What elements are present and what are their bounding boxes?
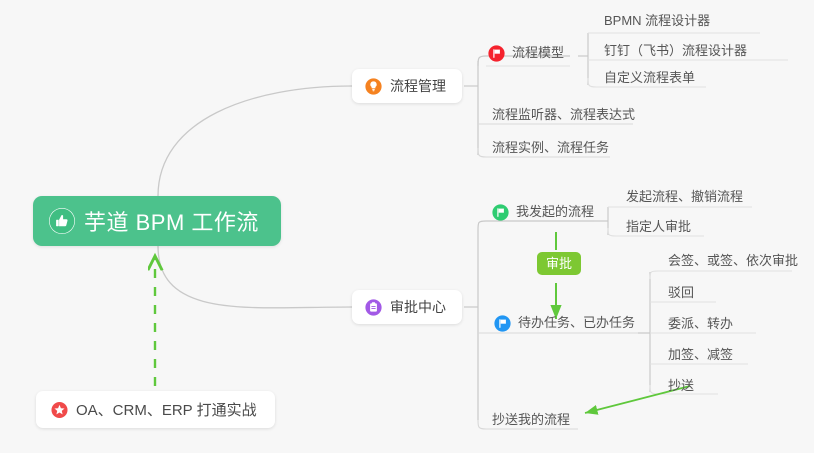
node-jiaqian-jianqian[interactable]: 加签、减签 <box>664 346 739 369</box>
floating-node-label: OA、CRM、ERP 打通实战 <box>76 399 257 420</box>
branch-node-shenpizhongxin[interactable]: 审批中心 <box>352 290 462 324</box>
node-liuchengmoxing[interactable]: 流程模型 <box>486 44 570 67</box>
node-liuchengshili[interactable]: 流程实例、流程任务 <box>488 139 615 162</box>
flag-icon <box>488 45 505 62</box>
floating-node-oa-crm-erp[interactable]: OA、CRM、ERP 打通实战 <box>36 391 275 428</box>
node-weipai-zhuanban[interactable]: 委派、转办 <box>664 315 739 338</box>
branch-label: 流程管理 <box>390 76 446 96</box>
node-wofaqide-liucheng[interactable]: 我发起的流程 <box>490 203 600 226</box>
node-custom-form[interactable]: 自定义流程表单 <box>600 69 701 92</box>
node-chaosong[interactable]: 抄送 <box>664 377 700 400</box>
root-node-label: 芋道 BPM 工作流 <box>84 205 259 237</box>
node-liuchengjiantingqi[interactable]: 流程监听器、流程表达式 <box>488 106 641 129</box>
root-node[interactable]: 芋道 BPM 工作流 <box>33 196 281 246</box>
node-huiqian-huoqian[interactable]: 会签、或签、依次审批 <box>664 252 804 275</box>
clipboard-icon <box>365 299 382 316</box>
node-daibanrenwu[interactable]: 待办任务、已办任务 <box>492 314 641 337</box>
node-dingding-designer[interactable]: 钉钉（飞书）流程设计器 <box>600 42 753 65</box>
mindmap-canvas: 芋道 BPM 工作流 流程管理 流程模型 流程监听器、流程表达式 流程实例、流程… <box>0 0 814 453</box>
lightbulb-icon <box>365 78 382 95</box>
node-chaosongwode-liucheng[interactable]: 抄送我的流程 <box>488 411 576 434</box>
node-label: 待办任务、已办任务 <box>518 314 635 332</box>
edge-root-to-shenpizhongxin <box>158 246 352 308</box>
branch-label: 审批中心 <box>390 297 446 317</box>
node-bpmn-designer[interactable]: BPMN 流程设计器 <box>600 12 716 35</box>
edge-note-shenpi[interactable]: 审批 <box>537 252 581 275</box>
branch-node-liuchengguanli[interactable]: 流程管理 <box>352 69 462 103</box>
node-label: 流程模型 <box>512 44 564 62</box>
node-zhidingren-shenpi[interactable]: 指定人审批 <box>622 218 697 241</box>
flag-icon <box>492 204 509 221</box>
thumbs-up-icon <box>49 208 75 234</box>
edge-root-to-liuchengguanli <box>158 86 352 196</box>
flag-icon <box>494 315 511 332</box>
star-icon <box>51 401 68 418</box>
node-label: 我发起的流程 <box>516 203 594 221</box>
node-bohui[interactable]: 驳回 <box>664 284 700 307</box>
node-faqi-chexiao[interactable]: 发起流程、撤销流程 <box>622 188 749 211</box>
